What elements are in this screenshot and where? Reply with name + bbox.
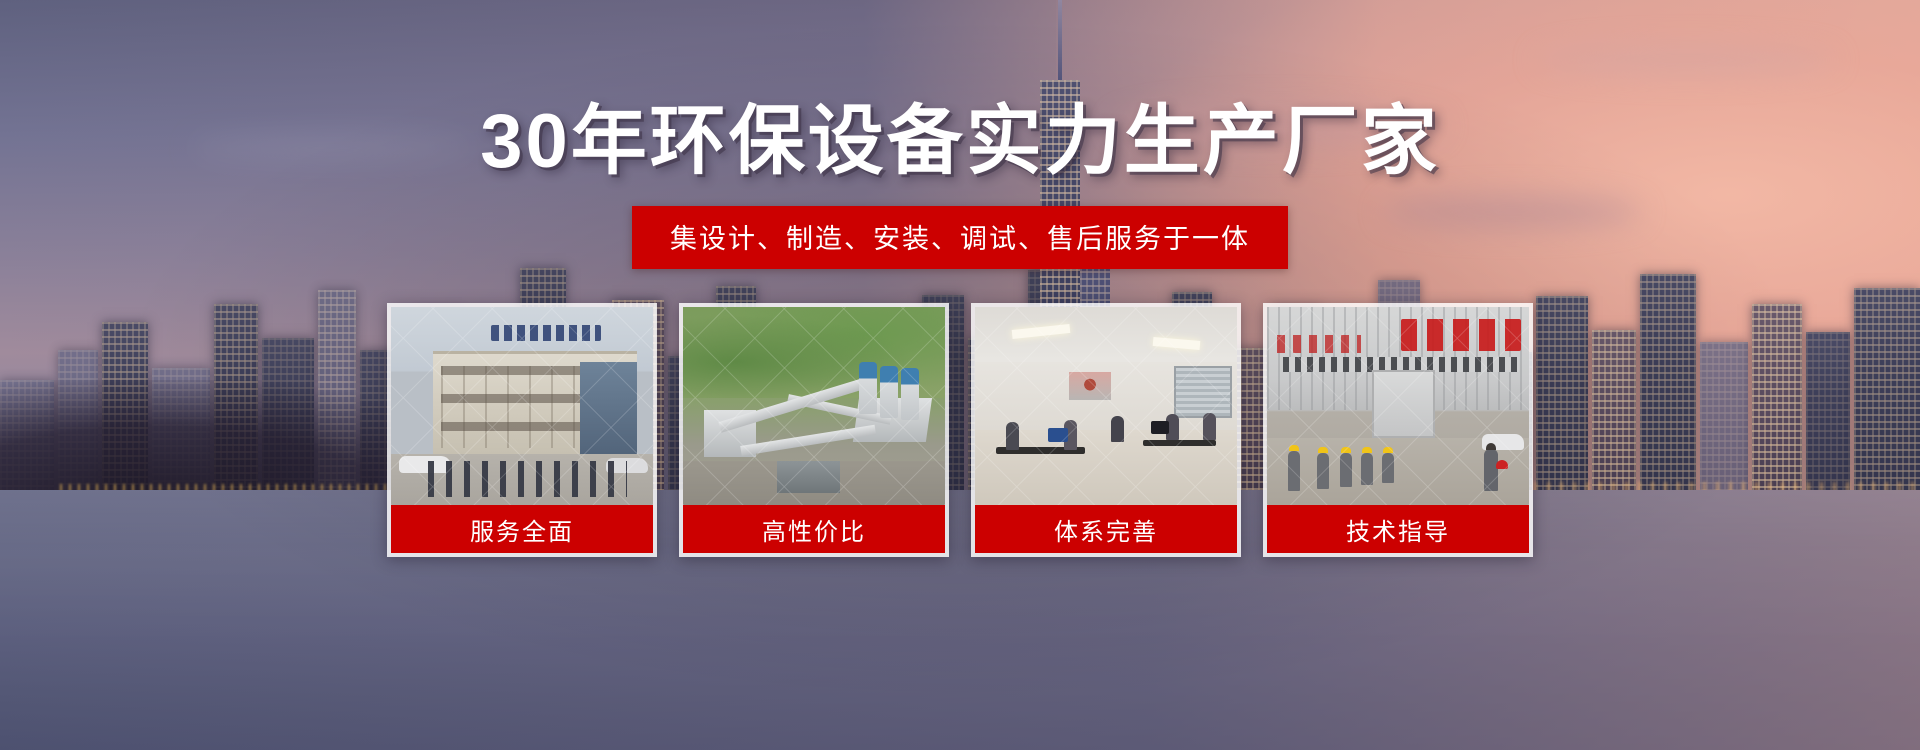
red-helmet	[1496, 460, 1508, 469]
banner-content: 30年环保设备实力生产厂家 集设计、制造、安装、调试、售后服务于一体 服务全面	[0, 0, 1920, 750]
hero-banner: 30年环保设备实力生产厂家 集设计、制造、安装、调试、售后服务于一体 服务全面	[0, 0, 1920, 750]
feature-card[interactable]: 技术指导	[1263, 303, 1533, 557]
office-interior-with-employees-photo	[975, 307, 1237, 505]
feature-card-list: 服务全面 高性价比	[387, 303, 1533, 557]
wall-emblem	[1069, 372, 1111, 400]
factory-workers-briefing-photo	[1267, 307, 1529, 505]
feature-card-caption: 体系完善	[975, 505, 1237, 553]
feature-card-caption: 高性价比	[683, 505, 945, 553]
feature-card-caption: 服务全面	[391, 505, 653, 553]
feature-card[interactable]: 高性价比	[679, 303, 949, 557]
feature-card[interactable]: 体系完善	[971, 303, 1241, 557]
subtitle-text: 集设计、制造、安装、调试、售后服务于一体	[670, 224, 1250, 254]
factory-banner-text	[1401, 319, 1522, 351]
subtitle-bar: 集设计、制造、安装、调试、售后服务于一体	[632, 206, 1288, 269]
feature-card[interactable]: 服务全面	[387, 303, 657, 557]
page-title: 30年环保设备实力生产厂家	[480, 104, 1440, 180]
company-logo-sign	[491, 325, 601, 341]
feature-card-caption: 技术指导	[1267, 505, 1529, 553]
aerial-industrial-plant-photo	[683, 307, 945, 505]
company-office-building-with-staff-photo	[391, 307, 653, 505]
